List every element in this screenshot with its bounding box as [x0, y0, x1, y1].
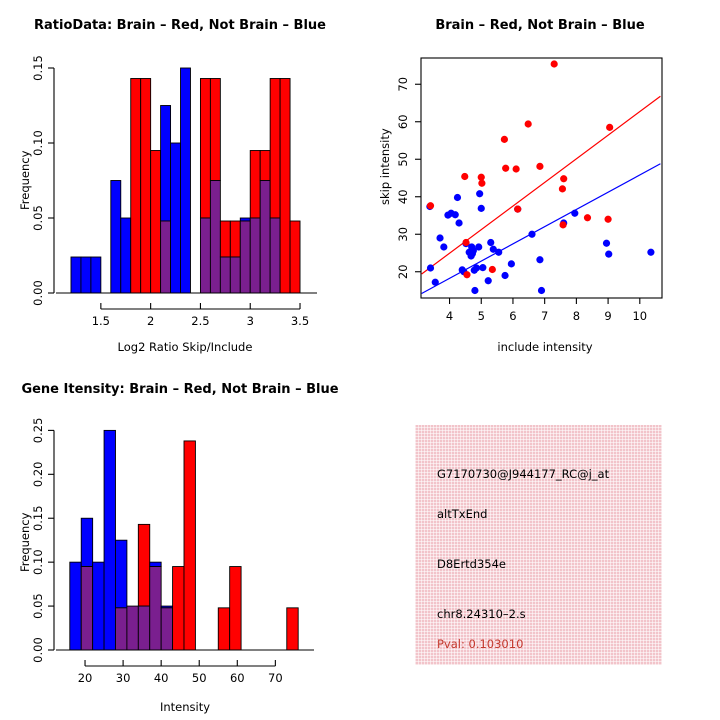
scatter-point: [473, 264, 480, 271]
histogram-bar-overlap: [150, 567, 161, 650]
y-tick-label: 0.15: [31, 505, 45, 531]
panel-scatter: Brain – Red, Not Brain – Blue skip inten…: [360, 0, 720, 360]
panel-ratio-histogram: RatioData: Brain – Red, Not Brain – Blue…: [0, 0, 360, 360]
histogram-bar: [287, 608, 298, 650]
histogram-bar: [150, 562, 161, 566]
histogram-bar: [111, 181, 121, 294]
scatter-point: [452, 211, 459, 218]
histogram-bar: [171, 143, 181, 293]
histogram-bar-overlap: [81, 567, 92, 650]
x-tick-label: 40: [154, 671, 169, 685]
scatter-point: [551, 60, 558, 67]
histogram-bar: [200, 79, 210, 219]
x-tick-label: 30: [116, 671, 131, 685]
histogram-bar: [250, 151, 260, 219]
scatter-point: [584, 214, 591, 221]
scatter-point: [538, 287, 545, 294]
x-tick-label: 2.5: [191, 314, 209, 328]
scatter-point: [514, 206, 521, 213]
histogram-bar: [104, 430, 115, 650]
scatter-point: [489, 266, 496, 273]
info-event-type: altTxEnd: [437, 507, 487, 521]
x-tick-label: 70: [268, 671, 283, 685]
histogram-bar: [151, 151, 161, 294]
scatter-point: [476, 190, 483, 197]
histogram-bar: [141, 79, 151, 294]
gene-histogram-xlabel: Intensity: [40, 700, 330, 714]
scatter-point: [427, 264, 434, 271]
scatter-point: [475, 243, 482, 250]
scatter-point: [432, 279, 439, 286]
histogram-bar: [81, 518, 92, 566]
scatter-point: [559, 221, 566, 228]
x-tick-label: 60: [230, 671, 245, 685]
histogram-bar: [115, 540, 126, 608]
y-tick-label: 20: [396, 264, 410, 279]
ratio-histogram-xlabel: Log2 Ratio Skip/Include: [40, 340, 330, 354]
scatter-point: [478, 180, 485, 187]
histogram-bar: [138, 524, 149, 606]
scatter-ylabel: skip intensity: [378, 128, 392, 205]
scatter-point: [485, 277, 492, 284]
x-tick-label: 50: [192, 671, 207, 685]
histogram-bar: [290, 221, 300, 293]
scatter-point: [463, 271, 470, 278]
panel-gene-histogram: Gene Itensity: Brain – Red, Not Brain – …: [0, 360, 360, 720]
histogram-bar-overlap: [230, 257, 240, 293]
x-tick-label: 5: [478, 309, 485, 323]
histogram-bar-overlap: [138, 606, 149, 650]
ratio-histogram-ylabel: Frequency: [18, 151, 32, 210]
scatter-point: [478, 205, 485, 212]
gene-histogram-plot: 0.000.050.100.150.200.25203040506070: [0, 360, 360, 720]
y-tick-label: 0.15: [31, 55, 45, 81]
scatter-point: [605, 251, 612, 258]
scatter-point: [513, 165, 520, 172]
scatter-point: [603, 240, 610, 247]
scatter-point: [559, 185, 566, 192]
histogram-bar: [93, 562, 104, 650]
scatter-point: [471, 287, 478, 294]
histogram-bar: [131, 79, 141, 294]
x-tick-label: 8: [573, 309, 580, 323]
scatter-point: [495, 249, 502, 256]
histogram-bar: [181, 68, 191, 293]
scatter-point: [436, 234, 443, 241]
x-tick-label: 3.5: [291, 314, 309, 328]
histogram-bar: [70, 562, 81, 650]
histogram-bar: [91, 257, 101, 293]
scatter-point: [487, 239, 494, 246]
gene-histogram-title: Gene Itensity: Brain – Red, Not Brain – …: [0, 382, 360, 397]
histogram-bar: [173, 567, 184, 650]
histogram-bar: [210, 79, 220, 181]
info-pval: Pval: 0.103010: [437, 637, 523, 651]
histogram-bar-overlap: [220, 257, 230, 293]
histogram-bar-overlap: [115, 608, 126, 650]
ratio-histogram-title: RatioData: Brain – Red, Not Brain – Blue: [0, 18, 360, 33]
scatter-point: [479, 264, 486, 271]
y-tick-label: 50: [396, 152, 410, 167]
y-tick-label: 0.25: [31, 418, 45, 444]
y-tick-label: 0.10: [31, 130, 45, 156]
x-tick-label: 1.5: [92, 314, 110, 328]
trendline: [422, 164, 661, 294]
histogram-bar-overlap: [270, 218, 280, 293]
histogram-bar: [220, 221, 230, 257]
x-tick-label: 20: [78, 671, 93, 685]
figure-canvas: RatioData: Brain – Red, Not Brain – Blue…: [0, 0, 720, 720]
scatter-title: Brain – Red, Not Brain – Blue: [360, 18, 720, 33]
histogram-bar-overlap: [250, 218, 260, 293]
histogram-bar: [218, 608, 229, 650]
y-tick-label: 0.10: [31, 549, 45, 575]
histogram-bar: [230, 221, 240, 257]
histogram-bar: [270, 79, 280, 219]
histogram-bar: [260, 151, 270, 181]
y-tick-label: 0.20: [31, 462, 45, 488]
histogram-bar-overlap: [161, 221, 171, 293]
histogram-bar-overlap: [210, 181, 220, 294]
scatter-point: [461, 173, 468, 180]
svg-gene-content: 0.000.050.100.150.200.25203040506070: [31, 418, 314, 685]
x-tick-label: 4: [446, 309, 453, 323]
histogram-bar-overlap: [240, 221, 250, 293]
y-tick-label: 0.05: [31, 205, 45, 231]
histogram-bar: [280, 79, 290, 294]
scatter-point: [606, 124, 613, 131]
info-coordinate: chr8.24310–2.s: [437, 607, 526, 621]
svg-ratio-content: 0.000.050.100.151.522.533.5: [31, 55, 317, 328]
x-tick-label: 3: [247, 314, 254, 328]
scatter-point: [427, 202, 434, 209]
scatter-point: [440, 243, 447, 250]
x-tick-label: 6: [509, 309, 516, 323]
scatter-point: [536, 163, 543, 170]
histogram-bar: [184, 441, 195, 650]
histogram-bar: [121, 218, 131, 293]
scatter-point: [536, 256, 543, 263]
scatter-point: [501, 272, 508, 279]
y-tick-label: 70: [396, 77, 410, 92]
histogram-bar-overlap: [200, 218, 210, 293]
x-tick-label: 7: [541, 309, 548, 323]
info-gene-symbol: D8Ertd354e: [437, 557, 506, 571]
y-tick-label: 30: [396, 227, 410, 242]
scatter-point: [462, 239, 469, 246]
histogram-bar-overlap: [127, 606, 138, 650]
y-tick-label: 0.00: [31, 280, 45, 306]
trendline: [422, 96, 661, 274]
y-tick-label: 60: [396, 114, 410, 129]
x-tick-label: 2: [147, 314, 154, 328]
x-tick-label: 9: [604, 309, 611, 323]
gene-info-panel: G7170730@J944177_RC@j_at altTxEnd D8Ertd…: [415, 425, 662, 665]
scatter-point: [571, 210, 578, 217]
histogram-bar-overlap: [260, 181, 270, 294]
histogram-bar: [71, 257, 81, 293]
svg-scatter-content: 20304050607045678910: [396, 58, 662, 323]
info-probe-id: G7170730@J944177_RC@j_at: [437, 467, 609, 481]
gene-histogram-ylabel: Frequency: [18, 513, 32, 572]
scatter-point: [560, 175, 567, 182]
scatter-point: [502, 165, 509, 172]
ratio-histogram-plot: 0.000.050.100.151.522.533.5: [0, 0, 360, 360]
x-tick-label: 10: [632, 309, 647, 323]
scatter-point: [454, 194, 461, 201]
histogram-bar: [161, 106, 171, 222]
y-tick-label: 0.05: [31, 593, 45, 619]
scatter-point: [604, 216, 611, 223]
y-tick-label: 40: [396, 189, 410, 204]
info-panel-hatch-texture: [415, 425, 662, 665]
scatter-point: [525, 120, 532, 127]
scatter-point: [508, 260, 515, 267]
histogram-bar-overlap: [161, 608, 172, 650]
scatter-point: [647, 249, 654, 256]
scatter-point: [528, 231, 535, 238]
histogram-bar: [230, 567, 241, 650]
histogram-bar: [81, 257, 91, 293]
scatter-point: [455, 219, 462, 226]
scatter-plot: 20304050607045678910: [360, 0, 720, 360]
y-tick-label: 0.00: [31, 637, 45, 663]
scatter-xlabel: include intensity: [400, 340, 690, 354]
scatter-point: [501, 136, 508, 143]
